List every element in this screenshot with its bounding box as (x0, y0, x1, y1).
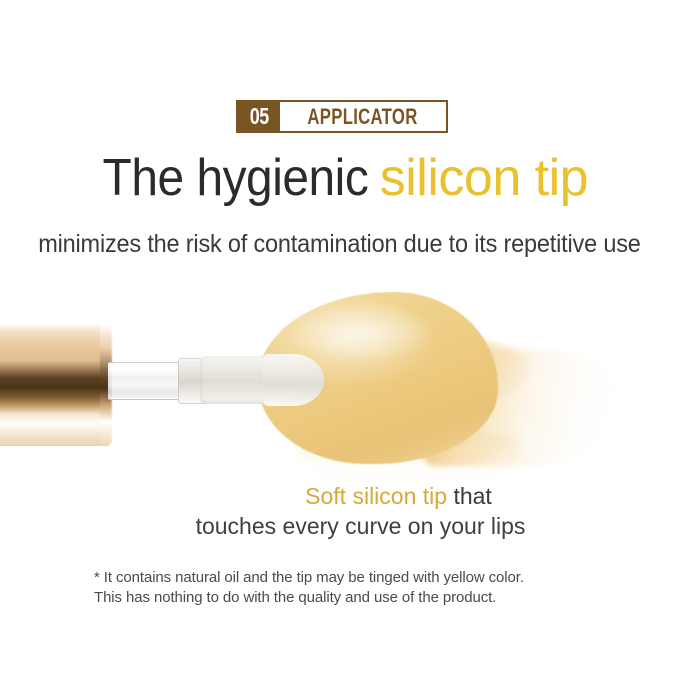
section-number: 05 (244, 102, 274, 131)
section-label: APPLICATOR (307, 104, 417, 130)
headline-highlight-text: silicon tip (380, 149, 588, 207)
footnote-line-2: This has nothing to do with the quality … (94, 588, 524, 608)
product-detail-page: 05 APPLICATOR The hygienic silicon tip m… (0, 0, 679, 687)
gold-cap (0, 324, 110, 446)
footnote-line-1: * It contains natural oil and the tip ma… (94, 568, 524, 588)
product-photo (0, 288, 679, 488)
footnote: * It contains natural oil and the tip ma… (94, 568, 524, 608)
caption-line-1: Soft silicon tip that (0, 481, 679, 511)
section-label-box: APPLICATOR (280, 102, 446, 131)
section-number-box: 05 (238, 102, 280, 131)
silicone-tip-head (262, 354, 324, 406)
subtitle-text: minimizes the risk of contamination due … (38, 228, 640, 260)
page-title: The hygienic silicon tip (0, 147, 679, 209)
caption-highlight-text: Soft silicon tip (305, 483, 447, 509)
section-badge: 05 APPLICATOR (236, 100, 448, 133)
caption-line-2: touches every curve on your lips (0, 511, 679, 541)
page-subtitle: minimizes the risk of contamination due … (0, 228, 679, 260)
product-caption: Soft silicon tip that touches every curv… (0, 481, 679, 541)
headline-plain-text: The hygienic (102, 147, 368, 209)
swatch-highlight (286, 302, 436, 362)
caption-plain-text: that (447, 483, 492, 509)
